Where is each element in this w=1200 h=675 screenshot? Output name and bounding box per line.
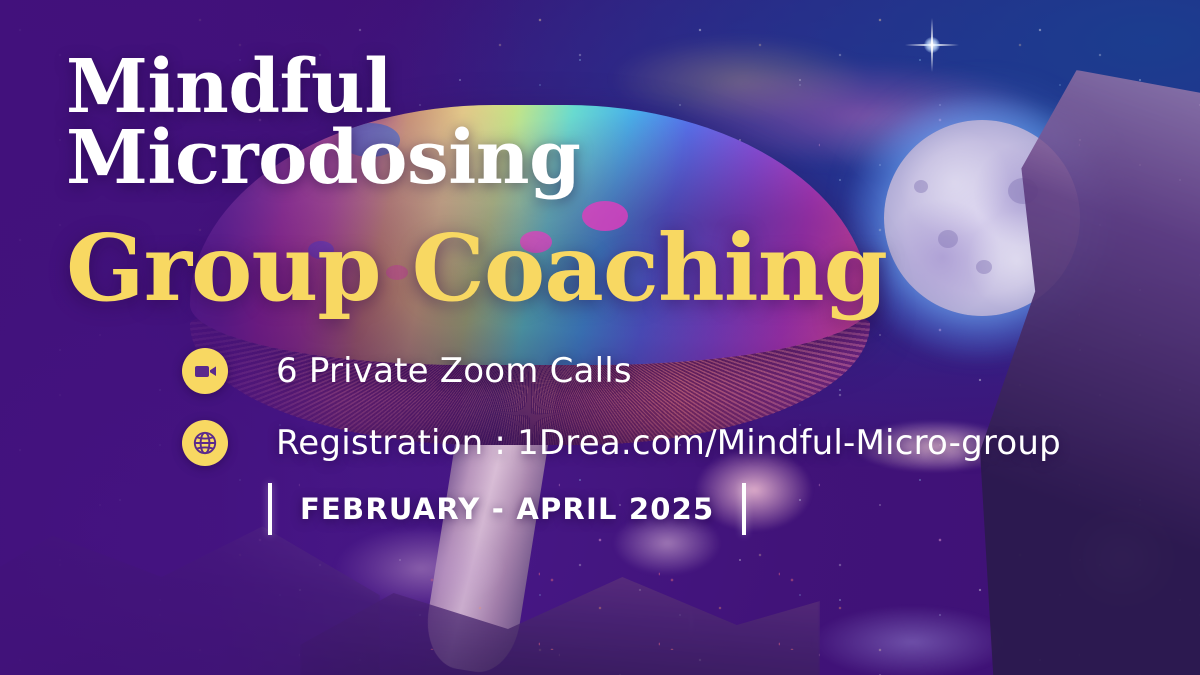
rule-right	[742, 483, 746, 535]
bullet-list: 6 Private Zoom Calls Registration :	[182, 340, 1061, 474]
date-range-label: FEBRUARY - APRIL 2025	[300, 492, 714, 526]
poster-canvas: Mindful Microdosing Group Coaching 6 Pri…	[0, 0, 1200, 675]
page-subtitle: Group Coaching	[66, 222, 926, 314]
poster-content: Mindful Microdosing Group Coaching 6 Pri…	[0, 0, 1200, 675]
title-line-2: Microdosing	[66, 123, 826, 194]
video-camera-icon	[182, 348, 228, 394]
rule-left	[268, 483, 272, 535]
page-title: Mindful Microdosing	[66, 52, 826, 194]
list-item-label: 6 Private Zoom Calls	[276, 351, 632, 391]
globe-icon	[182, 420, 228, 466]
list-item-label: Registration : 1Drea.com/Mindful-Micro-g…	[276, 423, 1061, 463]
list-item: 6 Private Zoom Calls	[182, 340, 1061, 402]
list-item: Registration : 1Drea.com/Mindful-Micro-g…	[182, 412, 1061, 474]
date-badge: FEBRUARY - APRIL 2025	[268, 482, 746, 536]
